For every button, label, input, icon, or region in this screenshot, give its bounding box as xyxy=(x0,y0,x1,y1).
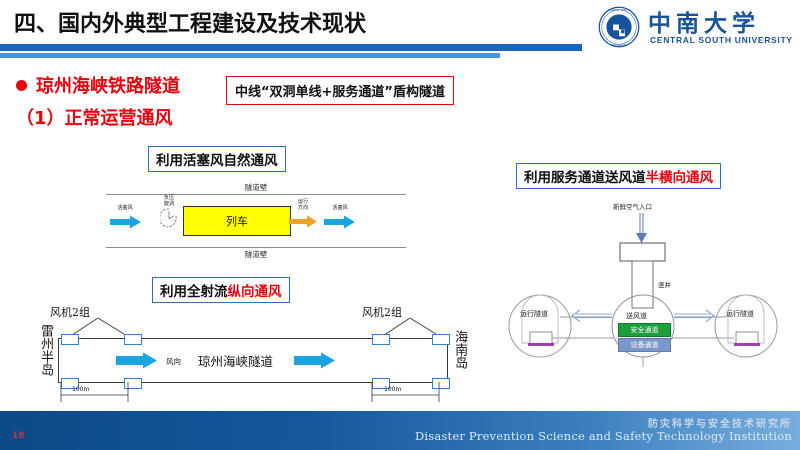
university-logo: CENTRAL SOUTH UNIVERSITY 中南大学 CENTRAL SO… xyxy=(598,4,794,52)
bullet-main-label: 琼州海峡铁路隧道 xyxy=(36,72,180,98)
logo-name-en: CENTRAL SOUTH UNIVERSITY xyxy=(650,35,793,45)
vortex-swirl-icon xyxy=(160,208,178,228)
supply-duct-label: 送风道 xyxy=(626,311,647,321)
caption-piston-ventilation: 利用活塞风自然通风 xyxy=(148,146,286,172)
page-title: 四、国内外典型工程建设及技术现状 xyxy=(14,6,366,38)
tunnel-wall-top-line xyxy=(106,194,406,195)
strait-tunnel-label: 琼州海峡隧道 xyxy=(198,351,273,370)
inflow-arrow-icon xyxy=(110,215,142,229)
csu-seal-icon: CENTRAL SOUTH UNIVERSITY xyxy=(598,6,640,48)
footer-institution-cn: 防灾科学与安全技术研究所 xyxy=(648,415,792,430)
footer-institution-en: Disaster Prevention Science and Safety T… xyxy=(415,429,792,443)
slide-canvas: 四、国内外典型工程建设及技术现状 CENTRAL SOUTH UNIVERSIT… xyxy=(0,0,800,450)
equipment-passage-chip: 设备通道 xyxy=(618,338,671,352)
left-landmass-label: 雷州半岛 xyxy=(38,324,53,379)
running-tunnel-left-label: 运行隧道 xyxy=(520,309,548,319)
page-number: 18 xyxy=(12,431,25,441)
running-tunnel-right-label: 运行隧道 xyxy=(726,309,754,319)
caption-semi-text-red: 半横向通风 xyxy=(646,170,714,186)
outflow-arrow-icon xyxy=(324,215,356,229)
caption-jet-text-red: 纵向通风 xyxy=(228,284,282,300)
header-rule-secondary xyxy=(0,53,500,58)
travel-direction-arrow-icon xyxy=(289,215,318,228)
safety-passage-chip: 安全通道 xyxy=(618,323,671,337)
tunnel-wall-top-label: 隧道壁 xyxy=(106,182,406,193)
caption-piston-text: 利用活塞风自然通风 xyxy=(156,153,278,169)
piston-inflow-label: 活塞风 xyxy=(110,206,140,212)
piston-wind-diagram: 隧道壁 隧道壁 活塞风 负压 旋涡 列车 运行 方向 活塞风 xyxy=(106,172,406,252)
travel-direction-label-line2: 方向 xyxy=(291,206,315,212)
dimension-right-icon xyxy=(369,382,459,404)
airflow-arrow-right-icon xyxy=(294,352,336,369)
dimension-left-label: 100m xyxy=(72,386,89,393)
caption-jet-text-black: 利用全射流 xyxy=(160,284,228,300)
shaft-label: 竖井 xyxy=(658,279,671,289)
fan-unit-right-top-1 xyxy=(372,334,390,345)
fresh-air-inlet-label: 新鲜空气入口 xyxy=(613,201,652,211)
bullet-main: 琼州海峡铁路隧道 xyxy=(16,72,180,98)
fan-unit-left-top-2 xyxy=(124,334,142,345)
piston-outflow-label: 活塞风 xyxy=(324,206,356,212)
caption-semitransverse-ventilation: 利用服务通道送风道半横向通风 xyxy=(516,163,721,189)
caption-semi-text-black: 利用服务通道送风道 xyxy=(524,170,646,186)
svg-text:UNIVERSITY: UNIVERSITY xyxy=(612,43,627,47)
bullet-dot-icon xyxy=(16,80,27,91)
fan-unit-left-top-1 xyxy=(61,334,79,345)
semitransverse-schematic xyxy=(500,195,790,380)
dimension-right-label: 100m xyxy=(384,386,401,393)
fan-unit-right-top-2 xyxy=(432,334,450,345)
tunnel-left-portal xyxy=(58,338,59,383)
callout-box: 中线“双洞单线+服务通道”盾构隧道 xyxy=(226,76,454,105)
right-landmass-label: 海南岛 xyxy=(452,330,467,372)
tunnel-wall-bottom-line xyxy=(106,247,406,248)
svg-text:CENTRAL SOUTH: CENTRAL SOUTH xyxy=(608,8,629,12)
semitransverse-ventilation-diagram: 新鲜空气入口 竖井 送风道 运行隧道 运行隧道 安全通道 设备通道 xyxy=(500,195,790,380)
header-rule-primary xyxy=(0,44,582,51)
logo-name-cn: 中南大学 xyxy=(648,4,760,38)
tunnel-wall-bottom-label: 隧道壁 xyxy=(106,249,406,260)
wind-direction-label: 风向 xyxy=(166,356,181,367)
longitudinal-ventilation-diagram: 雷州半岛 海南岛 风机2组 风机2组 风向 琼州海峡隧道 xyxy=(14,300,484,405)
train-block: 列车 xyxy=(183,206,291,236)
airflow-arrow-left-icon xyxy=(116,352,158,369)
bullet-sub-label: （1）正常运营通风 xyxy=(16,104,173,130)
